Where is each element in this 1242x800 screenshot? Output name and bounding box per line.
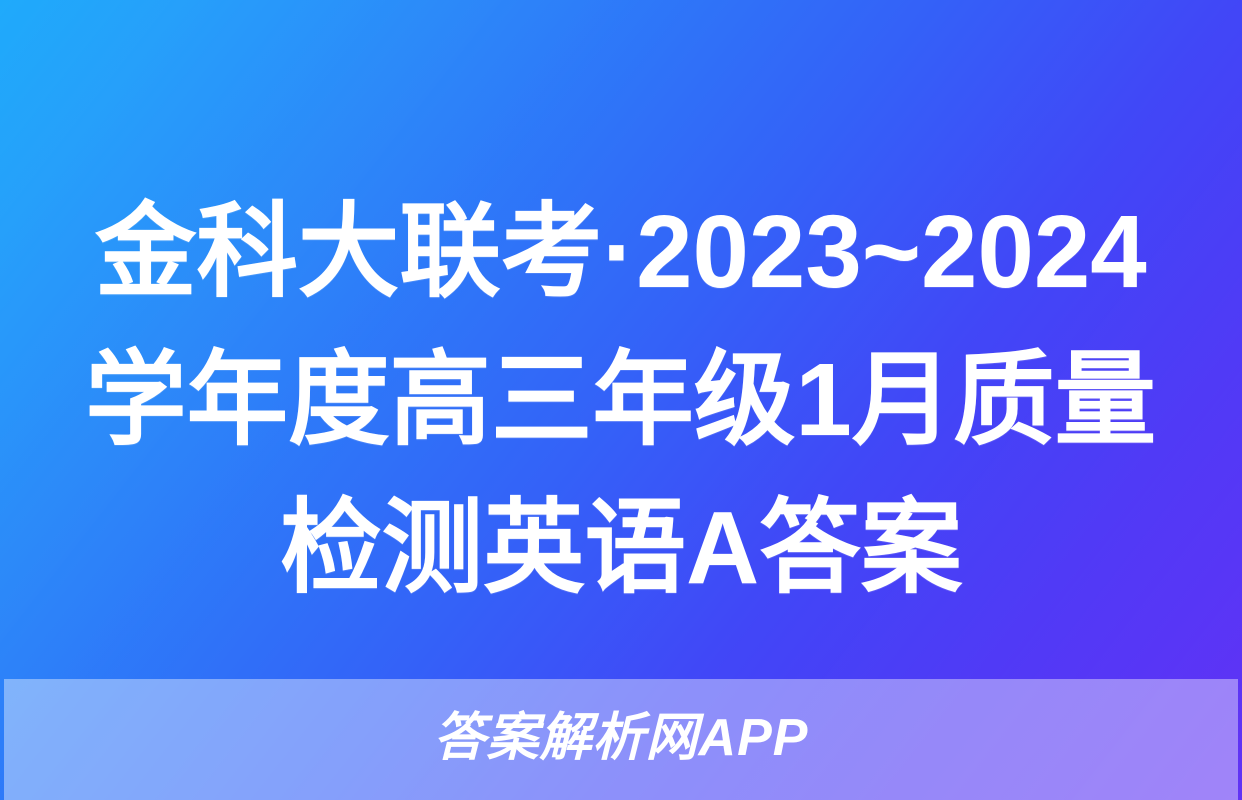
title-block: 金科大联考·2023~2024 学年度高三年级1月质量 检测英语A答案 — [0, 178, 1242, 622]
title-line-1: 金科大联考·2023~2024 — [95, 178, 1147, 326]
footer-branding-bar: 答案解析网APP — [4, 679, 1238, 800]
poster-card: 金科大联考·2023~2024 学年度高三年级1月质量 检测英语A答案 答案解析… — [0, 0, 1242, 800]
title-line-3: 检测英语A答案 — [280, 474, 962, 622]
app-brand-label: 答案解析网APP — [434, 708, 809, 768]
title-line-2: 学年度高三年级1月质量 — [85, 326, 1156, 474]
